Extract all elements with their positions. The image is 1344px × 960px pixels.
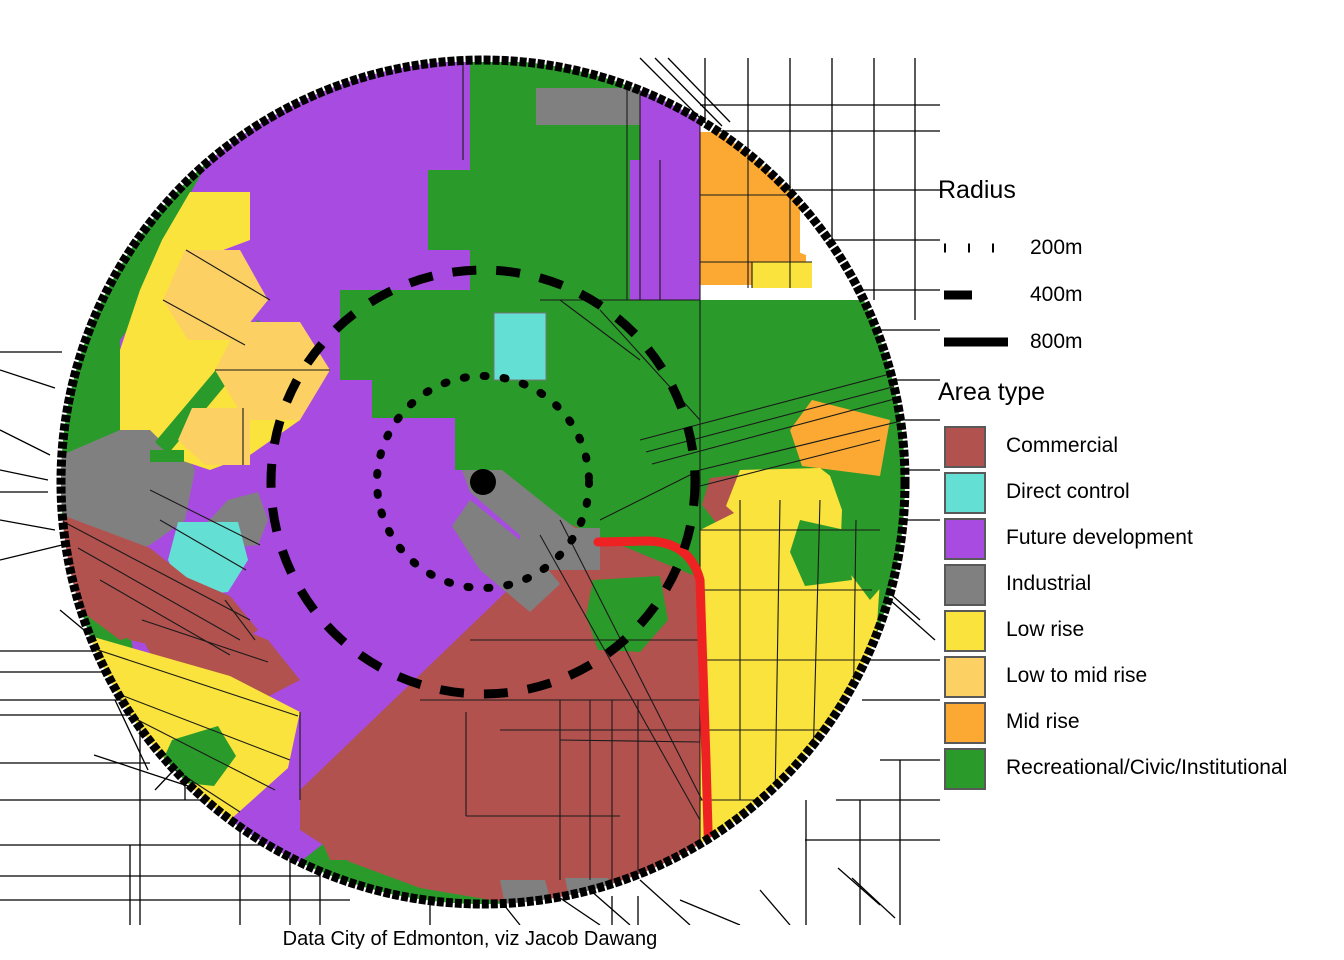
legend-area-item-future-development[interactable]: Future development	[938, 516, 1342, 562]
legend-panel: Radius 200m 400m 800m Area type Commerci…	[930, 0, 1344, 925]
source-caption: Data City of Edmonton, viz Jacob Dawang	[0, 928, 940, 951]
swatch-recreational	[944, 748, 986, 790]
swatch-low-to-mid-rise	[944, 656, 986, 698]
legend-area-label-recreational: Recreational/Civic/Institutional	[1006, 756, 1287, 780]
swatch-industrial	[944, 564, 986, 606]
legend-area-item-low-to-mid-rise[interactable]: Low to mid rise	[938, 654, 1342, 700]
swatch-mid-rise	[944, 702, 986, 744]
zone-direct-control-center	[494, 313, 546, 380]
legend-area-label-low-to-mid-rise: Low to mid rise	[1006, 664, 1147, 688]
swatch-direct-control	[944, 472, 986, 514]
legend-radius-label-200m: 200m	[1030, 236, 1083, 260]
legend-area-item-commercial[interactable]: Commercial	[938, 424, 1342, 470]
legend-area-item-mid-rise[interactable]: Mid rise	[938, 700, 1342, 746]
map-page: Zoning around NAIT/Bltachford Market LRT…	[0, 0, 1344, 960]
legend-area-label-low-rise: Low rise	[1006, 618, 1084, 642]
legend-area-item-low-rise[interactable]: Low rise	[938, 608, 1342, 654]
legend-area-item-direct-control[interactable]: Direct control	[938, 470, 1342, 516]
radius-key-dashed-icon	[938, 275, 1014, 315]
legend-area-item-recreational[interactable]: Recreational/Civic/Institutional	[938, 746, 1342, 792]
legend-area-label-direct-control: Direct control	[1006, 480, 1130, 504]
legend-area-label-mid-rise: Mid rise	[1006, 710, 1080, 734]
legend-area-label-industrial: Industrial	[1006, 572, 1091, 596]
legend-areatype-title: Area type	[938, 378, 1045, 407]
radius-key-dotted-icon	[938, 228, 1014, 268]
swatch-commercial	[944, 426, 986, 468]
zone-industrial-n	[536, 88, 640, 125]
legend-area-label-future-development: Future development	[1006, 526, 1193, 550]
station-marker	[470, 469, 496, 495]
legend-radius-label-400m: 400m	[1030, 283, 1083, 307]
radius-key-solid-icon	[938, 322, 1014, 362]
zoning-map	[0, 0, 940, 925]
swatch-future-development	[944, 518, 986, 560]
swatch-low-rise	[944, 610, 986, 652]
legend-radius-label-800m: 800m	[1030, 330, 1083, 354]
legend-radius-title: Radius	[938, 176, 1016, 205]
legend-radius-item-800m[interactable]: 800m	[938, 322, 1338, 362]
zone-lowrise-ne	[752, 262, 812, 288]
legend-area-label-commercial: Commercial	[1006, 434, 1118, 458]
zone-rec-strip-nw2	[150, 450, 184, 462]
legend-radius-item-400m[interactable]: 400m	[938, 275, 1338, 315]
legend-area-item-industrial[interactable]: Industrial	[938, 562, 1342, 608]
legend-radius-item-200m[interactable]: 200m	[938, 228, 1338, 268]
